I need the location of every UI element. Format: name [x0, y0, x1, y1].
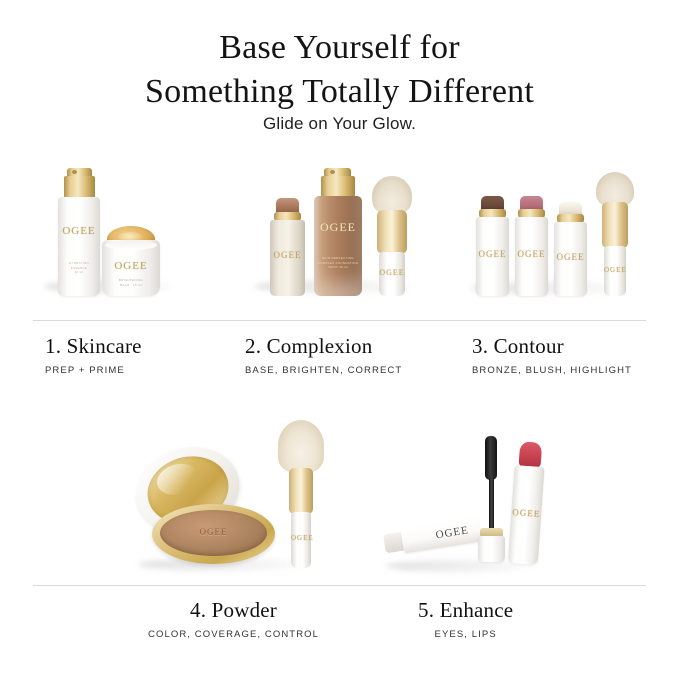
wand-bristles — [485, 436, 497, 480]
stick-body: OGEE — [476, 217, 509, 296]
serum-pump-bottle: OGEE HYDRATINGESSENCE30 ml — [58, 168, 100, 296]
step-title: 3. Contour — [472, 334, 632, 359]
brand-logo: OGEE — [379, 268, 405, 277]
mascara-wand — [474, 436, 508, 562]
brush-ferrule — [289, 468, 313, 514]
brush-fibers — [372, 176, 412, 214]
brand-logo: OGEE — [554, 252, 587, 262]
mascara-tube: OGEE — [383, 517, 482, 558]
tube-body: OGEE — [400, 517, 481, 554]
highlight-stick: OGEE — [554, 202, 587, 296]
step-caption-skincare: 1. Skincare PREP + PRIME — [45, 334, 142, 376]
product-group-enhance: OGEE OGEE — [382, 420, 572, 580]
brush-fibers — [278, 420, 324, 472]
stick-body: OGEE — [270, 220, 305, 296]
pump-nozzle-icon — [72, 170, 77, 174]
step-caption-contour: 3. Contour BRONZE, BLUSH, HIGHLIGHT — [472, 334, 632, 376]
step-subtitle: BRONZE, BLUSH, HIGHLIGHT — [472, 365, 632, 376]
step-title: 2. Complexion — [245, 334, 402, 359]
balm-jar: OGEE BRIGHTENINGBALM · 15 ml — [102, 226, 160, 296]
product-group-powder: OGEE OGEE — [130, 420, 340, 580]
pump-nozzle-icon — [330, 170, 335, 174]
step-caption-complexion: 2. Complexion BASE, BRIGHTEN, CORRECT — [245, 334, 402, 376]
lip-crayon: OGEE — [506, 441, 548, 565]
brush-ferrule — [377, 210, 407, 254]
jar-body: OGEE BRIGHTENINGBALM · 15 ml — [102, 240, 160, 296]
pump-neck — [321, 176, 355, 197]
concealer-stick: OGEE — [270, 198, 305, 296]
product-sublabel: SKIN-PERFECTINGCOMPLEX FOUNDATIONTEINT 3… — [314, 256, 362, 270]
product-group-complexion: OGEE OGEE SKIN-PERFECTINGCOMPLEX FOUNDAT… — [252, 160, 432, 310]
brand-logo: OGEE — [515, 249, 548, 259]
step-caption-enhance: 5. Enhance EYES, LIPS — [418, 598, 513, 640]
product-group-skincare: OGEE HYDRATINGESSENCE30 ml OGEE BRIGHTEN… — [40, 160, 205, 310]
powder-brush: OGEE — [272, 420, 330, 568]
wand-handle — [478, 536, 505, 562]
wand-stem — [489, 478, 494, 534]
page-title: Base Yourself for Something Totally Diff… — [0, 26, 679, 113]
brand-logo: OGEE — [604, 266, 626, 274]
step-caption-powder: 4. Powder COLOR, COVERAGE, CONTROL — [148, 598, 319, 640]
brand-logo: OGEE — [270, 250, 305, 260]
brush-handle: OGEE — [604, 246, 626, 296]
contour-brush: OGEE — [594, 172, 636, 296]
brand-logo: OGEE — [58, 225, 100, 237]
step-subtitle: BASE, BRIGHTEN, CORRECT — [245, 365, 402, 376]
bottle-body: OGEE HYDRATINGESSENCE30 ml — [58, 197, 100, 296]
compact-base: OGEE — [152, 504, 275, 564]
brush-fibers — [596, 172, 634, 206]
step-title: 5. Enhance — [418, 598, 513, 623]
crayon-body: OGEE — [508, 465, 545, 565]
stick-body: OGEE — [515, 217, 548, 296]
blush-stick: OGEE — [515, 196, 548, 296]
brand-logo: OGEE — [160, 527, 267, 537]
step-subtitle: EYES, LIPS — [418, 629, 513, 640]
product-group-contour: OGEE OGEE OGEE OGEE — [470, 160, 650, 310]
pump-neck — [64, 176, 95, 198]
step-title: 4. Powder — [148, 598, 319, 623]
product-sublabel: BRIGHTENINGBALM · 15 ml — [102, 278, 160, 287]
brand-logo: OGEE — [476, 249, 509, 259]
brand-logo: OGEE — [291, 534, 311, 542]
brush-handle: OGEE — [291, 512, 311, 568]
divider-row-2 — [33, 585, 646, 586]
headline-line-2: Something Totally Different — [0, 70, 679, 114]
divider-row-1 — [33, 320, 646, 321]
step-subtitle: COLOR, COVERAGE, CONTROL — [148, 629, 319, 640]
powder-compact: OGEE — [130, 448, 275, 568]
stick-body: OGEE — [554, 222, 587, 296]
brush-ferrule — [602, 202, 628, 248]
jar-rim — [105, 240, 157, 250]
bronze-stick: OGEE — [476, 196, 509, 296]
powder-pan: OGEE — [160, 510, 267, 556]
page-subtitle: Glide on Your Glow. — [0, 114, 679, 134]
step-subtitle: PREP + PRIME — [45, 365, 142, 376]
brand-logo: OGEE — [435, 524, 470, 541]
brand-logo: OGEE — [511, 507, 542, 519]
kabuki-brush: OGEE — [370, 176, 414, 296]
infographic-canvas: Base Yourself for Something Totally Diff… — [0, 0, 679, 679]
brand-logo: OGEE — [102, 260, 160, 272]
headline-line-1: Base Yourself for — [219, 29, 459, 66]
brush-handle: OGEE — [379, 252, 405, 296]
product-sublabel: HYDRATINGESSENCE30 ml — [58, 261, 100, 275]
bottle-body: OGEE SKIN-PERFECTINGCOMPLEX FOUNDATIONTE… — [314, 196, 362, 296]
step-title: 1. Skincare — [45, 334, 142, 359]
foundation-bottle: OGEE SKIN-PERFECTINGCOMPLEX FOUNDATIONTE… — [314, 168, 362, 296]
brand-logo: OGEE — [314, 220, 362, 235]
